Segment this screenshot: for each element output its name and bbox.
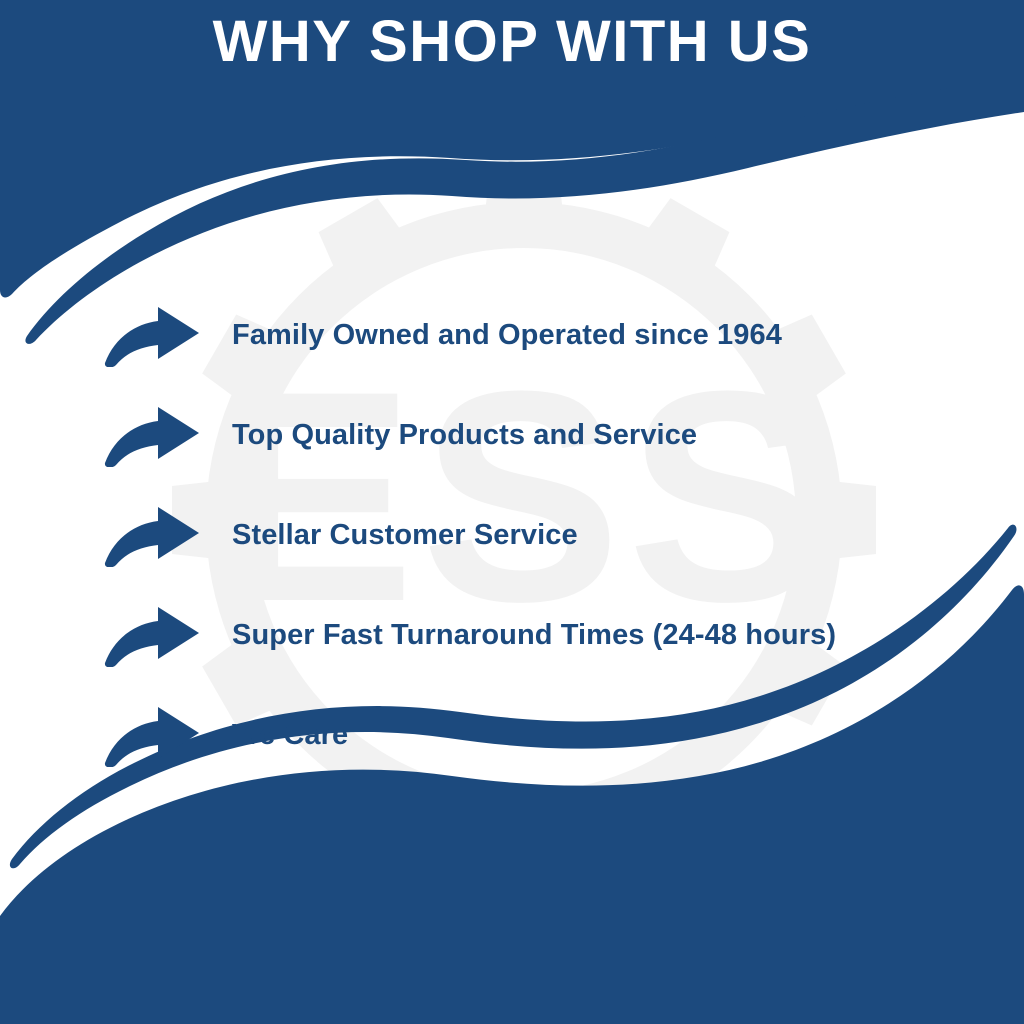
benefit-label: Family Owned and Operated since 1964 [232,319,1024,352]
benefits-list: Family Owned and Operated since 1964 Top… [0,286,1024,786]
curved-arrow-right-icon [104,305,200,367]
curved-arrow-right-icon [104,505,200,567]
header-band: WHY SHOP WITH US [0,0,1024,100]
list-item: Family Owned and Operated since 1964 [0,286,1024,386]
list-item: We Care [0,686,1024,786]
list-item: Stellar Customer Service [0,486,1024,586]
curved-arrow-right-icon [104,705,200,767]
curved-arrow-right-icon [104,605,200,667]
promo-banner: ESS WHY SHOP WITH US Family Owned and Op… [0,0,1024,1024]
benefit-label: Top Quality Products and Service [232,419,1024,452]
list-item: Top Quality Products and Service [0,386,1024,486]
list-item: Super Fast Turnaround Times (24-48 hours… [0,586,1024,686]
benefit-label: We Care [232,719,1024,752]
page-title: WHY SHOP WITH US [213,0,812,73]
benefit-label: Super Fast Turnaround Times (24-48 hours… [232,619,1024,652]
benefit-label: Stellar Customer Service [232,519,1024,552]
curved-arrow-right-icon [104,405,200,467]
